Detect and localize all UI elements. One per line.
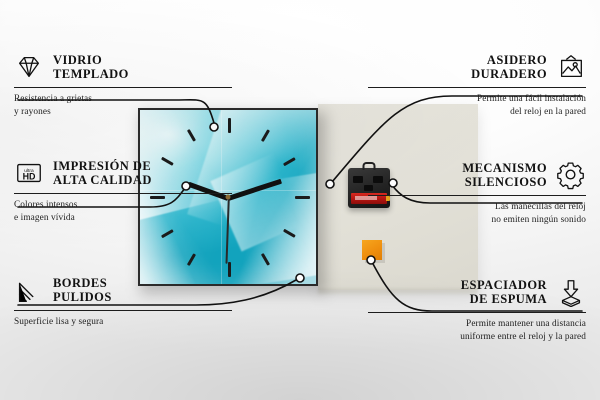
clock-tick-12 — [228, 118, 231, 133]
diamond-icon — [14, 52, 44, 82]
feature-header: ESPACIADOR DE ESPUMA — [368, 277, 586, 307]
ultra-hd-icon-bottom-text: HD — [23, 172, 36, 182]
gear-icon — [556, 160, 586, 190]
feature-description: Colores intensos e imagen vívida — [14, 199, 232, 224]
feature-desc-line2: y rayones — [14, 106, 232, 118]
feature-vidrio-templado: VIDRIO TEMPLADO Resistencia a grietas y … — [14, 52, 232, 118]
feature-title-line2: PULIDOS — [53, 290, 112, 304]
foam-spacer — [362, 240, 382, 260]
feature-title-line2: DURADERO — [471, 67, 547, 81]
feature-divider — [14, 87, 232, 88]
feature-divider — [368, 312, 586, 313]
feature-title-line2: SILENCIOSO — [462, 175, 547, 189]
feature-header: ultra HD IMPRESIÓN DE ALTA CALIDAD — [14, 158, 232, 188]
feature-header: BORDES PULIDOS — [14, 275, 232, 305]
feature-title: ESPACIADOR DE ESPUMA — [461, 278, 547, 306]
feature-title-line2: ALTA CALIDAD — [53, 173, 152, 187]
feature-desc-line1: Permite mantener una distancia — [368, 318, 586, 330]
feature-title: IMPRESIÓN DE ALTA CALIDAD — [53, 159, 152, 187]
feature-divider — [14, 193, 232, 194]
clock-tick-3 — [295, 196, 310, 199]
feature-header: MECANISMO SILENCIOSO — [368, 160, 586, 190]
feature-impresion-alta-calidad: ultra HD IMPRESIÓN DE ALTA CALIDAD Color… — [14, 158, 232, 224]
polished-edges-icon — [14, 275, 44, 305]
feature-title-line1: ESPACIADOR — [461, 278, 547, 292]
feature-desc-line1: Las manecillas del reloj — [368, 201, 586, 213]
feature-title-line1: IMPRESIÓN DE — [53, 159, 152, 173]
feature-description: Permite una fácil instalación del reloj … — [368, 93, 586, 118]
feature-desc-line2: no emiten ningún sonido — [368, 214, 586, 226]
feature-description: Las manecillas del reloj no emiten ningú… — [368, 201, 586, 226]
feature-title-line1: ASIDERO — [471, 53, 547, 67]
feature-espaciador-de-espuma: ESPACIADOR DE ESPUMA Permite mantener un… — [368, 277, 586, 343]
infographic-canvas: VIDRIO TEMPLADO Resistencia a grietas y … — [0, 0, 600, 400]
feature-title-line1: BORDES — [53, 276, 112, 290]
foam-spacer-arrow-icon — [556, 277, 586, 307]
ultra-hd-icon: ultra HD — [14, 158, 44, 188]
feature-description: Permite mantener una distancia uniforme … — [368, 318, 586, 343]
feature-desc-line1: Superficie lisa y segura — [14, 316, 232, 328]
feature-mecanismo-silencioso: MECANISMO SILENCIOSO Las manecillas del … — [368, 160, 586, 226]
feature-title: VIDRIO TEMPLADO — [53, 53, 129, 81]
feature-title-line2: DE ESPUMA — [461, 292, 547, 306]
feature-divider — [368, 87, 586, 88]
feature-desc-line2: e imagen vívida — [14, 212, 232, 224]
feature-title: ASIDERO DURADERO — [471, 53, 547, 81]
feature-divider — [14, 310, 232, 311]
feature-header: VIDRIO TEMPLADO — [14, 52, 232, 82]
mechanism-slot-1 — [353, 176, 363, 183]
feature-header: ASIDERO DURADERO — [368, 52, 586, 82]
feature-desc-line1: Resistencia a grietas — [14, 93, 232, 105]
feature-desc-line1: Colores intensos — [14, 199, 232, 211]
feature-divider — [368, 195, 586, 196]
feature-desc-line2: del reloj en la pared — [368, 106, 586, 118]
feature-title-line1: MECANISMO — [462, 161, 547, 175]
feature-title: MECANISMO SILENCIOSO — [462, 161, 547, 189]
picture-hanger-icon — [556, 52, 586, 82]
feature-desc-line2: uniforme entre el reloj y la pared — [368, 331, 586, 343]
feature-asidero-duradero: ASIDERO DURADERO Permite una fácil insta… — [368, 52, 586, 118]
feature-title: BORDES PULIDOS — [53, 276, 112, 304]
feature-title-line1: VIDRIO — [53, 53, 129, 67]
feature-description: Resistencia a grietas y rayones — [14, 93, 232, 118]
feature-title-line2: TEMPLADO — [53, 67, 129, 81]
feature-description: Superficie lisa y segura — [14, 316, 232, 328]
feature-desc-line1: Permite una fácil instalación — [368, 93, 586, 105]
feature-bordes-pulidos: BORDES PULIDOS Superficie lisa y segura — [14, 275, 232, 329]
